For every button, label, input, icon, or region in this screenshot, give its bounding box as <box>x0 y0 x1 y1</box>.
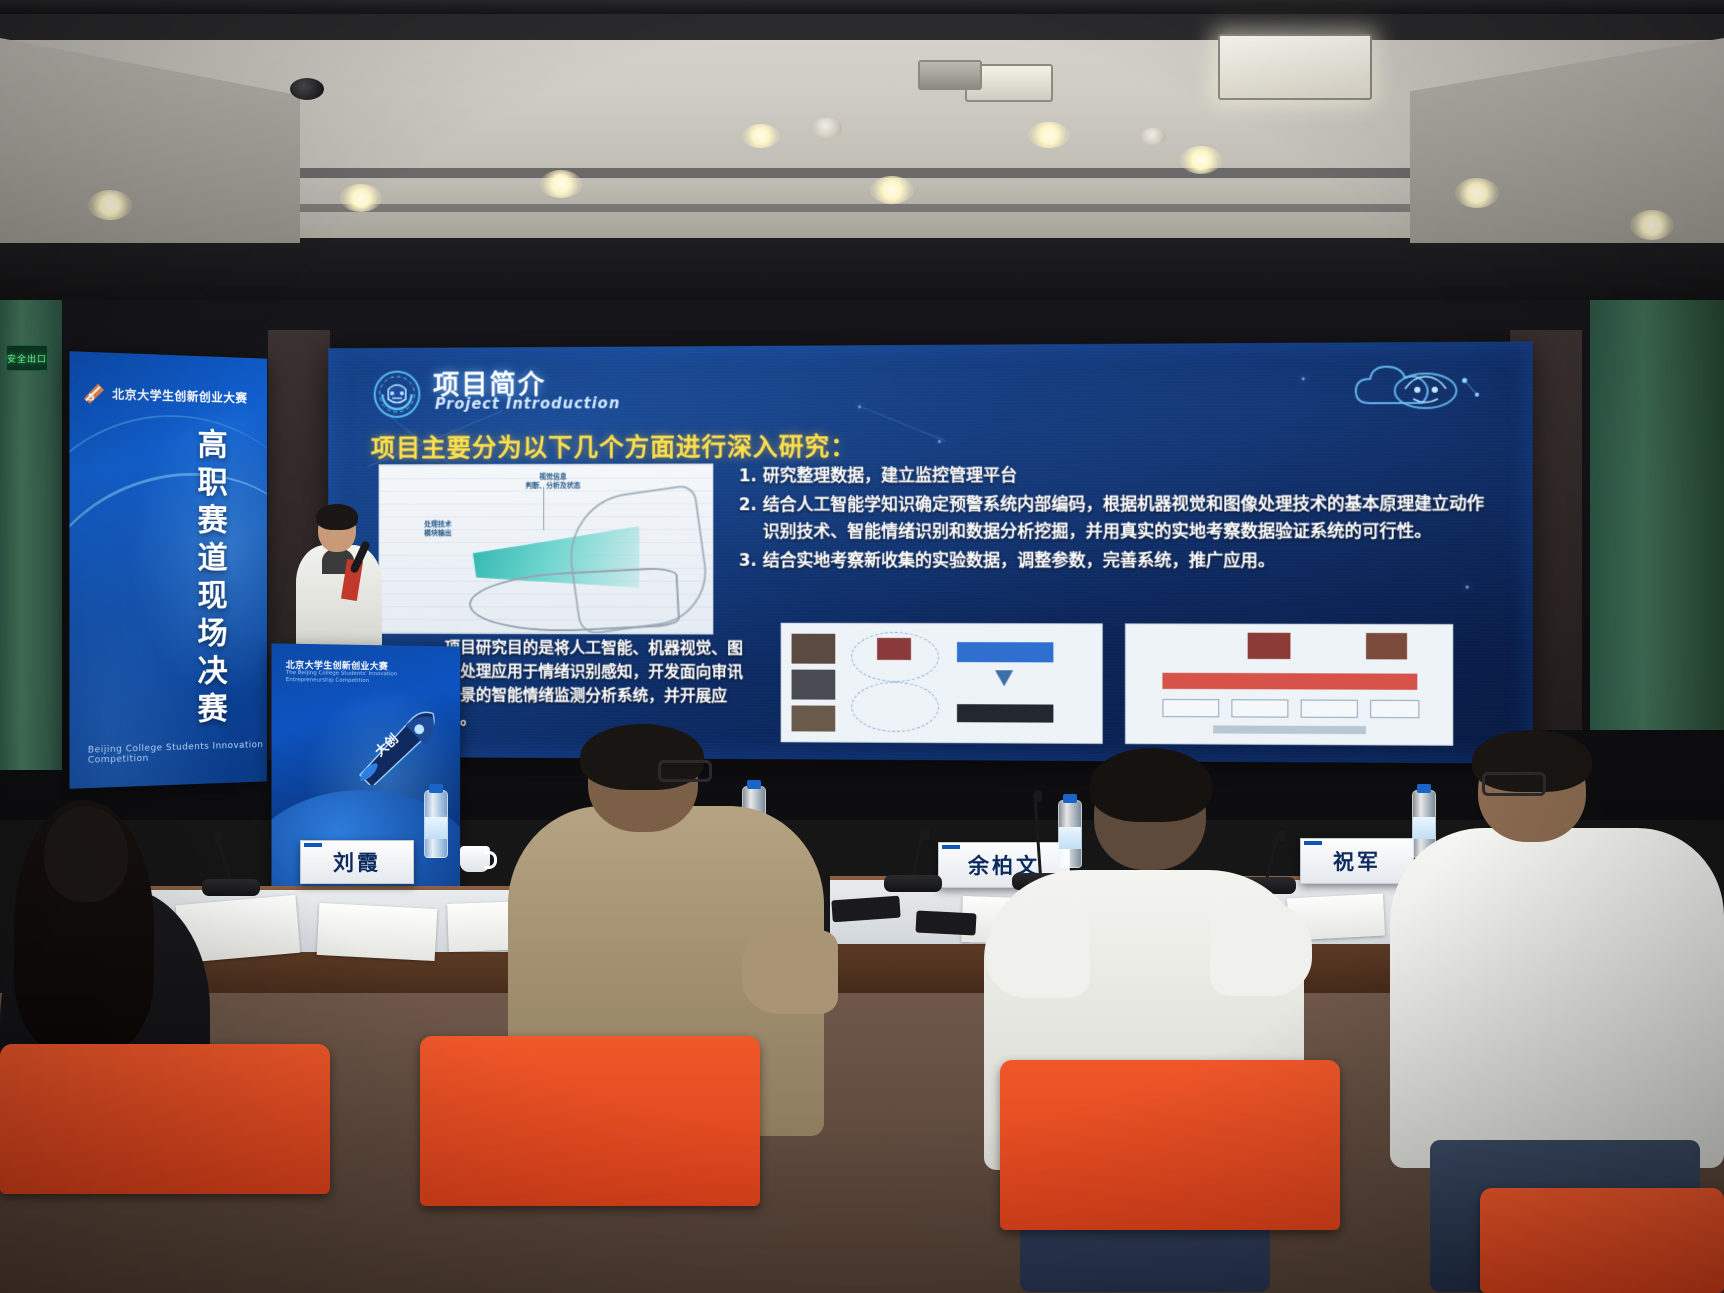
led-presentation-screen: 项目简介 Project Introduction 项目主要分为以下几个方面进行… <box>328 342 1532 764</box>
nameplate-accent-bar <box>304 843 322 847</box>
slide-caption: 项目研究目的是将人工智能、机器视觉、图像处理应用于情绪识别感知，开发面向审讯场景… <box>445 636 749 732</box>
bullet-item: 结合实地考察新收集的实验数据，调整参数，完善系统，推广应用。 <box>763 548 1484 575</box>
network-line <box>863 407 947 441</box>
ceiling-rail-2 <box>300 204 1410 212</box>
thumb2-node-4 <box>1370 700 1419 718</box>
judge-2-arm <box>742 930 838 1014</box>
mic-capsule <box>1034 790 1042 802</box>
bottle-cap <box>747 780 761 789</box>
thumb-photo-2 <box>792 670 836 700</box>
banner-swoosh-2 <box>69 364 267 789</box>
document-sheet-2 <box>317 903 438 961</box>
ceiling-recess-1 <box>0 14 1724 40</box>
mic-capsule <box>922 828 930 840</box>
downlight-6 <box>1455 178 1499 208</box>
thumb2-node-3 <box>1301 700 1358 718</box>
thumb2-box-row <box>1162 673 1417 690</box>
chair-2[interactable] <box>420 1036 760 1206</box>
downlight-8 <box>742 124 780 148</box>
mic-stem <box>1033 794 1042 876</box>
bullet-item: 结合人工智能学知识确定预警系统内部编码，根据机器视觉和图像处理技术的基本原理建立… <box>763 491 1484 545</box>
banner-vertical-text: 高职赛道现场决赛 <box>188 427 232 730</box>
thumb-box-dark <box>957 704 1053 722</box>
downlight-3 <box>540 170 582 198</box>
downlight-7 <box>1630 210 1674 240</box>
thumb2-node-1 <box>1162 699 1219 717</box>
ceiling-beam-1 <box>0 0 1724 14</box>
network-dot <box>1302 377 1305 380</box>
mobile-phone[interactable] <box>831 896 900 923</box>
smoke-detector-1 <box>812 118 842 138</box>
downlight-2 <box>340 184 382 212</box>
judge-3-arm-left <box>986 902 1090 998</box>
bottle-label <box>1413 817 1435 839</box>
conference-room-scene: 安全出口 项目简介 Project Introduction <box>0 0 1724 1293</box>
bottle-label <box>425 817 447 839</box>
chair-4[interactable] <box>1480 1188 1724 1293</box>
mic-capsule <box>214 832 222 844</box>
slide-heading: 项目主要分为以下几个方面进行深入研究： <box>371 427 856 464</box>
slide-thumbnail-left <box>781 623 1103 744</box>
thumb-photo-1 <box>792 634 836 664</box>
nameplate-label: 刘霞 <box>333 847 381 877</box>
ceiling-rail-1 <box>300 168 1410 178</box>
bottle-cap <box>429 784 443 793</box>
mic-base <box>884 875 942 892</box>
downlight-5 <box>1180 146 1222 174</box>
thumb-box-blue <box>957 642 1053 662</box>
nameplate-accent-bar <box>942 845 960 849</box>
podium-org-title-en: The Beijing College Students' Innovation… <box>286 670 435 686</box>
nameplate-zhu-jun: 祝军 <box>1300 838 1414 884</box>
thumb-bubble-2 <box>851 682 939 732</box>
ai-brain-cloud-icon <box>1339 358 1493 426</box>
exit-sign: 安全出口 <box>6 345 48 371</box>
thumb2-photo-2 <box>1366 633 1407 659</box>
tea-cup-1 <box>460 846 490 872</box>
chair-3[interactable] <box>1000 1060 1340 1230</box>
mobile-phone-2[interactable] <box>915 910 976 935</box>
water-bottle-1 <box>424 790 448 858</box>
judge-4-glasses-icon <box>1482 772 1546 796</box>
competition-banner: 5 北京大学生创新创业大赛 高职赛道现场决赛 Beijing College S… <box>69 351 267 789</box>
downlight-1 <box>88 190 132 220</box>
conference-microphone-1[interactable] <box>202 830 260 896</box>
mic-capsule <box>1278 830 1286 842</box>
ceiling-vent-1 <box>918 60 982 90</box>
downlight-4 <box>870 176 914 204</box>
thumb2-caption-bar <box>1213 725 1366 734</box>
smoke-detector-2 <box>1140 128 1166 145</box>
diagram-leader-line <box>543 487 544 531</box>
ceiling-light-panel-1 <box>1218 34 1372 100</box>
judge-4-body <box>1390 828 1724 1168</box>
mic-stem <box>1265 833 1280 880</box>
project-logo-icon <box>369 366 425 423</box>
nameplate-label: 祝军 <box>1333 846 1381 876</box>
judge-3-hair <box>1090 748 1212 822</box>
slide-diagram-image: 视觉信息判断、分析及状态 处理技术模块输出 <box>379 464 714 635</box>
ceiling-speaker-1 <box>290 78 324 100</box>
thumb-photo-4 <box>877 638 911 660</box>
chair-1[interactable] <box>0 1044 330 1194</box>
nameplate-accent-bar <box>1304 841 1322 845</box>
judge-2-glasses-icon <box>658 760 712 782</box>
green-column-right <box>1590 300 1724 730</box>
cup-handle <box>484 851 497 869</box>
thumb2-node-2 <box>1231 699 1288 717</box>
slide-thumbnail-right <box>1125 623 1453 745</box>
bottle-cap <box>1417 784 1431 793</box>
network-dot <box>938 440 941 443</box>
svg-text:5: 5 <box>88 392 95 403</box>
bullet-item: 研究整理数据，建立监控管理平台 <box>763 462 1484 490</box>
rocket-icon: 大创 <box>350 705 444 785</box>
diagram-label-top: 视觉信息判断、分析及状态 <box>494 473 612 491</box>
banner-footer-text: Beijing College Students Innovation Comp… <box>88 740 267 766</box>
nameplate-liu-xia: 刘霞 <box>300 840 414 884</box>
banner-org-title: 北京大学生创新创业大赛 <box>112 385 247 406</box>
exit-sign-label: 安全出口 <box>7 352 47 365</box>
downlight-9 <box>1028 122 1070 148</box>
mic-base <box>202 879 260 896</box>
thumb2-photo-1 <box>1248 633 1291 659</box>
thumb-photo-3 <box>792 705 836 731</box>
slide-bullet-list: 研究整理数据，建立监控管理平台 结合人工智能学知识确定预警系统内部编码，根据机器… <box>737 462 1484 578</box>
judge-1-head <box>44 806 128 902</box>
network-dot <box>1466 585 1469 588</box>
conference-microphone-2[interactable] <box>884 826 942 892</box>
competition-logo-icon: 5 <box>82 380 108 407</box>
network-dot <box>858 405 861 408</box>
diagram-label-left: 处理技术模块输出 <box>401 520 475 538</box>
judge-3-arm-right <box>1210 900 1312 996</box>
slide-title-en: Project Introduction <box>435 394 620 413</box>
presenter-hair <box>316 504 358 530</box>
thumb-arrow <box>995 670 1013 686</box>
